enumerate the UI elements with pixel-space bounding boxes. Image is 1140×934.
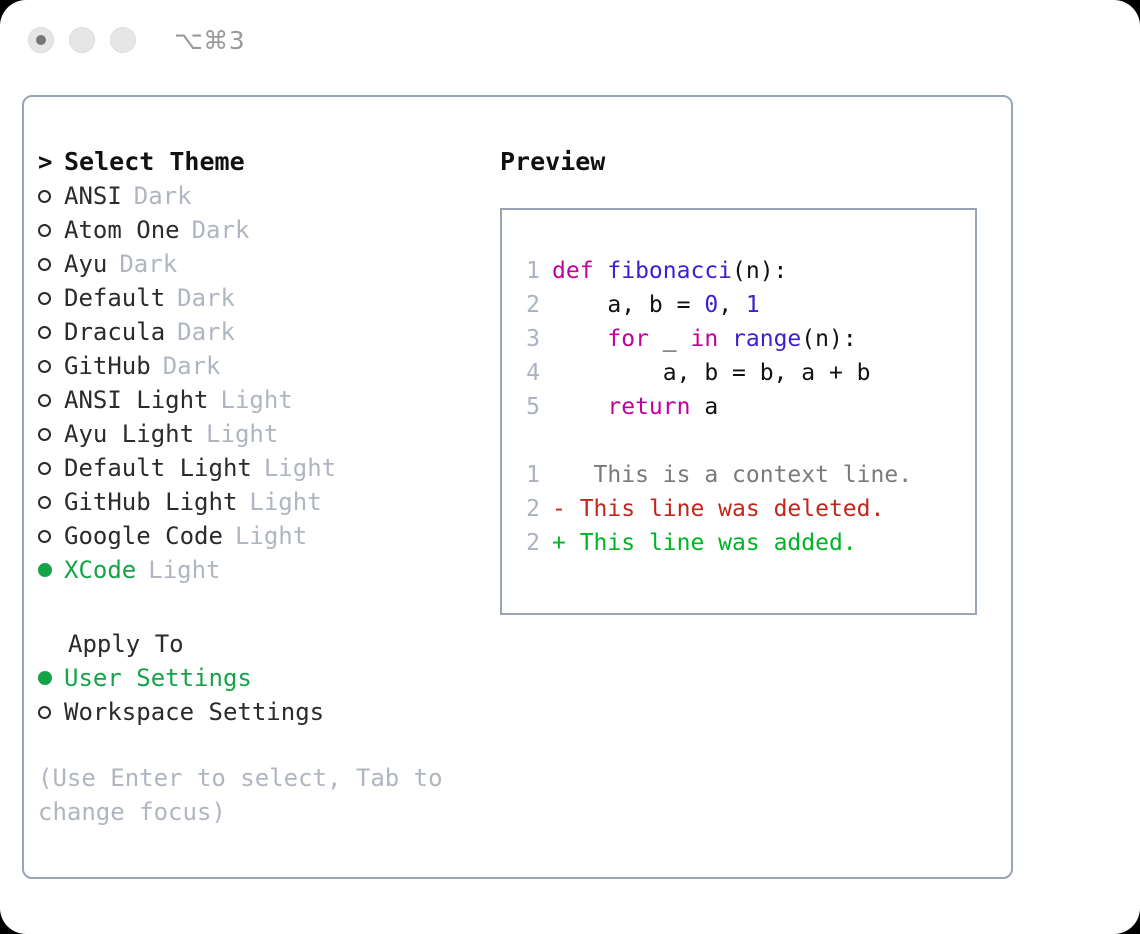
code-token: in xyxy=(690,326,718,352)
keyboard-shortcut-label: ⌥⌘3 xyxy=(174,26,245,55)
theme-picker-column: > Select Theme ANSIDarkAtom OneDarkAyuDa… xyxy=(38,145,498,829)
code-token: 0 xyxy=(704,292,718,318)
keyboard-hint-text: (Use Enter to select, Tab to change focu… xyxy=(38,761,448,829)
line-number: 2 xyxy=(520,492,540,526)
theme-kind-badge: Light xyxy=(148,553,220,587)
theme-list-item[interactable]: XCodeLight xyxy=(38,553,498,587)
code-token: a xyxy=(690,394,718,420)
window-button-three[interactable] xyxy=(110,27,136,53)
theme-name-label: Google Code xyxy=(64,519,223,553)
diff-text: This line was added. xyxy=(566,530,857,556)
theme-name-label: Default xyxy=(64,281,165,315)
radio-unselected-icon xyxy=(38,530,51,543)
theme-list-item[interactable]: AyuDark xyxy=(38,247,498,281)
code-token xyxy=(718,326,732,352)
apply-to-option-label: User Settings xyxy=(64,661,252,695)
apply-to-option[interactable]: User Settings xyxy=(38,661,498,695)
theme-kind-badge: Dark xyxy=(177,281,235,315)
line-number: 1 xyxy=(520,458,540,492)
theme-kind-badge: Dark xyxy=(163,349,221,383)
radio-unselected-icon xyxy=(38,496,51,509)
theme-kind-badge: Light xyxy=(235,519,307,553)
radio-marker xyxy=(38,179,64,213)
radio-unselected-icon xyxy=(38,428,51,441)
code-token: (n): xyxy=(732,258,787,284)
title-bar: ⌥⌘3 xyxy=(0,0,1140,80)
main-panel: > Select Theme ANSIDarkAtom OneDarkAyuDa… xyxy=(22,95,1013,879)
code-sample: 1def fibonacci(n):2 a, b = 0, 13 for _ i… xyxy=(520,254,912,560)
theme-list-item[interactable]: Default LightLight xyxy=(38,451,498,485)
code-token: _ xyxy=(649,326,691,352)
diff-sign xyxy=(552,462,566,488)
theme-name-label: Ayu Light xyxy=(64,417,194,451)
code-line: 3 for _ in range(n): xyxy=(520,322,912,356)
theme-kind-badge: Dark xyxy=(119,247,177,281)
apply-to-option[interactable]: Workspace Settings xyxy=(38,695,498,729)
theme-list-item[interactable]: GitHubDark xyxy=(38,349,498,383)
diff-sign: + xyxy=(552,530,566,556)
code-token: , xyxy=(718,292,746,318)
code-token: for xyxy=(607,326,649,352)
code-token: fibonacci xyxy=(607,258,732,284)
radio-marker xyxy=(38,417,64,451)
theme-list-item[interactable]: DraculaDark xyxy=(38,315,498,349)
radio-unselected-icon xyxy=(38,224,51,237)
radio-unselected-icon xyxy=(38,258,51,271)
code-token: def xyxy=(552,258,607,284)
radio-marker xyxy=(38,383,64,417)
radio-marker xyxy=(38,281,64,315)
radio-marker xyxy=(38,485,64,519)
code-token: 1 xyxy=(746,292,760,318)
line-number: 2 xyxy=(520,526,540,560)
radio-marker xyxy=(38,695,64,729)
prompt-caret-icon: > xyxy=(38,145,64,179)
theme-name-label: Ayu xyxy=(64,247,107,281)
theme-list-item[interactable]: ANSIDark xyxy=(38,179,498,213)
theme-list-item[interactable]: ANSI LightLight xyxy=(38,383,498,417)
theme-kind-badge: Light xyxy=(206,417,278,451)
theme-list-item[interactable]: Ayu LightLight xyxy=(38,417,498,451)
radio-unselected-icon xyxy=(38,394,51,407)
theme-name-label: GitHub Light xyxy=(64,485,237,519)
code-token xyxy=(552,326,607,352)
record-dot-icon xyxy=(36,35,46,45)
code-token: return xyxy=(607,394,690,420)
code-line: 5 return a xyxy=(520,390,912,424)
radio-unselected-icon xyxy=(38,292,51,305)
preview-box: 1def fibonacci(n):2 a, b = 0, 13 for _ i… xyxy=(500,208,977,615)
radio-unselected-icon xyxy=(38,462,51,475)
radio-unselected-icon xyxy=(38,360,51,373)
preview-column: Preview 1def fibonacci(n):2 a, b = 0, 13… xyxy=(500,145,1000,615)
radio-unselected-icon xyxy=(38,190,51,203)
window-button-two[interactable] xyxy=(69,27,95,53)
apply-to-option-label: Workspace Settings xyxy=(64,695,324,729)
theme-name-label: ANSI xyxy=(64,179,122,213)
theme-list-item[interactable]: GitHub LightLight xyxy=(38,485,498,519)
theme-kind-badge: Light xyxy=(264,451,336,485)
radio-unselected-icon xyxy=(38,326,51,339)
radio-selected-icon xyxy=(38,671,52,685)
diff-text: This is a context line. xyxy=(566,462,912,488)
line-number: 3 xyxy=(520,322,540,356)
code-line: 4 a, b = b, a + b xyxy=(520,356,912,390)
radio-marker xyxy=(38,519,64,553)
theme-name-label: ANSI Light xyxy=(64,383,209,417)
radio-marker xyxy=(38,247,64,281)
theme-name-label: Dracula xyxy=(64,315,165,349)
diff-sign: - xyxy=(552,496,566,522)
radio-marker xyxy=(38,315,64,349)
line-number: 1 xyxy=(520,254,540,288)
app-window: ⌥⌘3 > Select Theme ANSIDarkAtom OneDarkA… xyxy=(0,0,1140,934)
theme-kind-badge: Light xyxy=(249,485,321,519)
code-token: range xyxy=(732,326,801,352)
theme-name-label: Default Light xyxy=(64,451,252,485)
page-title: Select Theme xyxy=(64,145,245,179)
theme-name-label: XCode xyxy=(64,553,136,587)
select-theme-header: > Select Theme xyxy=(38,145,498,179)
theme-list-item[interactable]: Atom OneDark xyxy=(38,213,498,247)
theme-list-item[interactable]: DefaultDark xyxy=(38,281,498,315)
theme-kind-badge: Light xyxy=(221,383,293,417)
section-spacer xyxy=(38,587,498,627)
apply-to-heading: Apply To xyxy=(38,627,498,661)
diff-separator xyxy=(520,424,912,458)
theme-list: ANSIDarkAtom OneDarkAyuDarkDefaultDarkDr… xyxy=(38,179,498,587)
apply-to-options: User SettingsWorkspace Settings xyxy=(38,661,498,729)
record-indicator-button[interactable] xyxy=(28,27,54,53)
radio-marker xyxy=(38,349,64,383)
radio-unselected-icon xyxy=(38,706,51,719)
theme-name-label: Atom One xyxy=(64,213,180,247)
line-number: 4 xyxy=(520,356,540,390)
radio-selected-icon xyxy=(38,563,52,577)
radio-marker xyxy=(38,213,64,247)
code-token: (n): xyxy=(801,326,856,352)
theme-kind-badge: Dark xyxy=(177,315,235,349)
diff-text: This line was deleted. xyxy=(566,496,885,522)
line-number: 2 xyxy=(520,288,540,322)
code-line: 1def fibonacci(n): xyxy=(520,254,912,288)
theme-kind-badge: Dark xyxy=(134,179,192,213)
theme-list-item[interactable]: Google CodeLight xyxy=(38,519,498,553)
diff-line: 2+ This line was added. xyxy=(520,526,912,560)
diff-line: 1 This is a context line. xyxy=(520,458,912,492)
preview-heading: Preview xyxy=(500,145,1000,179)
theme-kind-badge: Dark xyxy=(192,213,250,247)
radio-marker xyxy=(38,451,64,485)
code-line: 2 a, b = 0, 1 xyxy=(520,288,912,322)
code-token: a, b = xyxy=(552,292,704,318)
code-token: a, b = b, a + b xyxy=(552,360,871,386)
code-token xyxy=(552,394,607,420)
diff-line: 2- This line was deleted. xyxy=(520,492,912,526)
line-number: 5 xyxy=(520,390,540,424)
theme-name-label: GitHub xyxy=(64,349,151,383)
radio-marker xyxy=(38,553,64,587)
radio-marker xyxy=(38,661,64,695)
